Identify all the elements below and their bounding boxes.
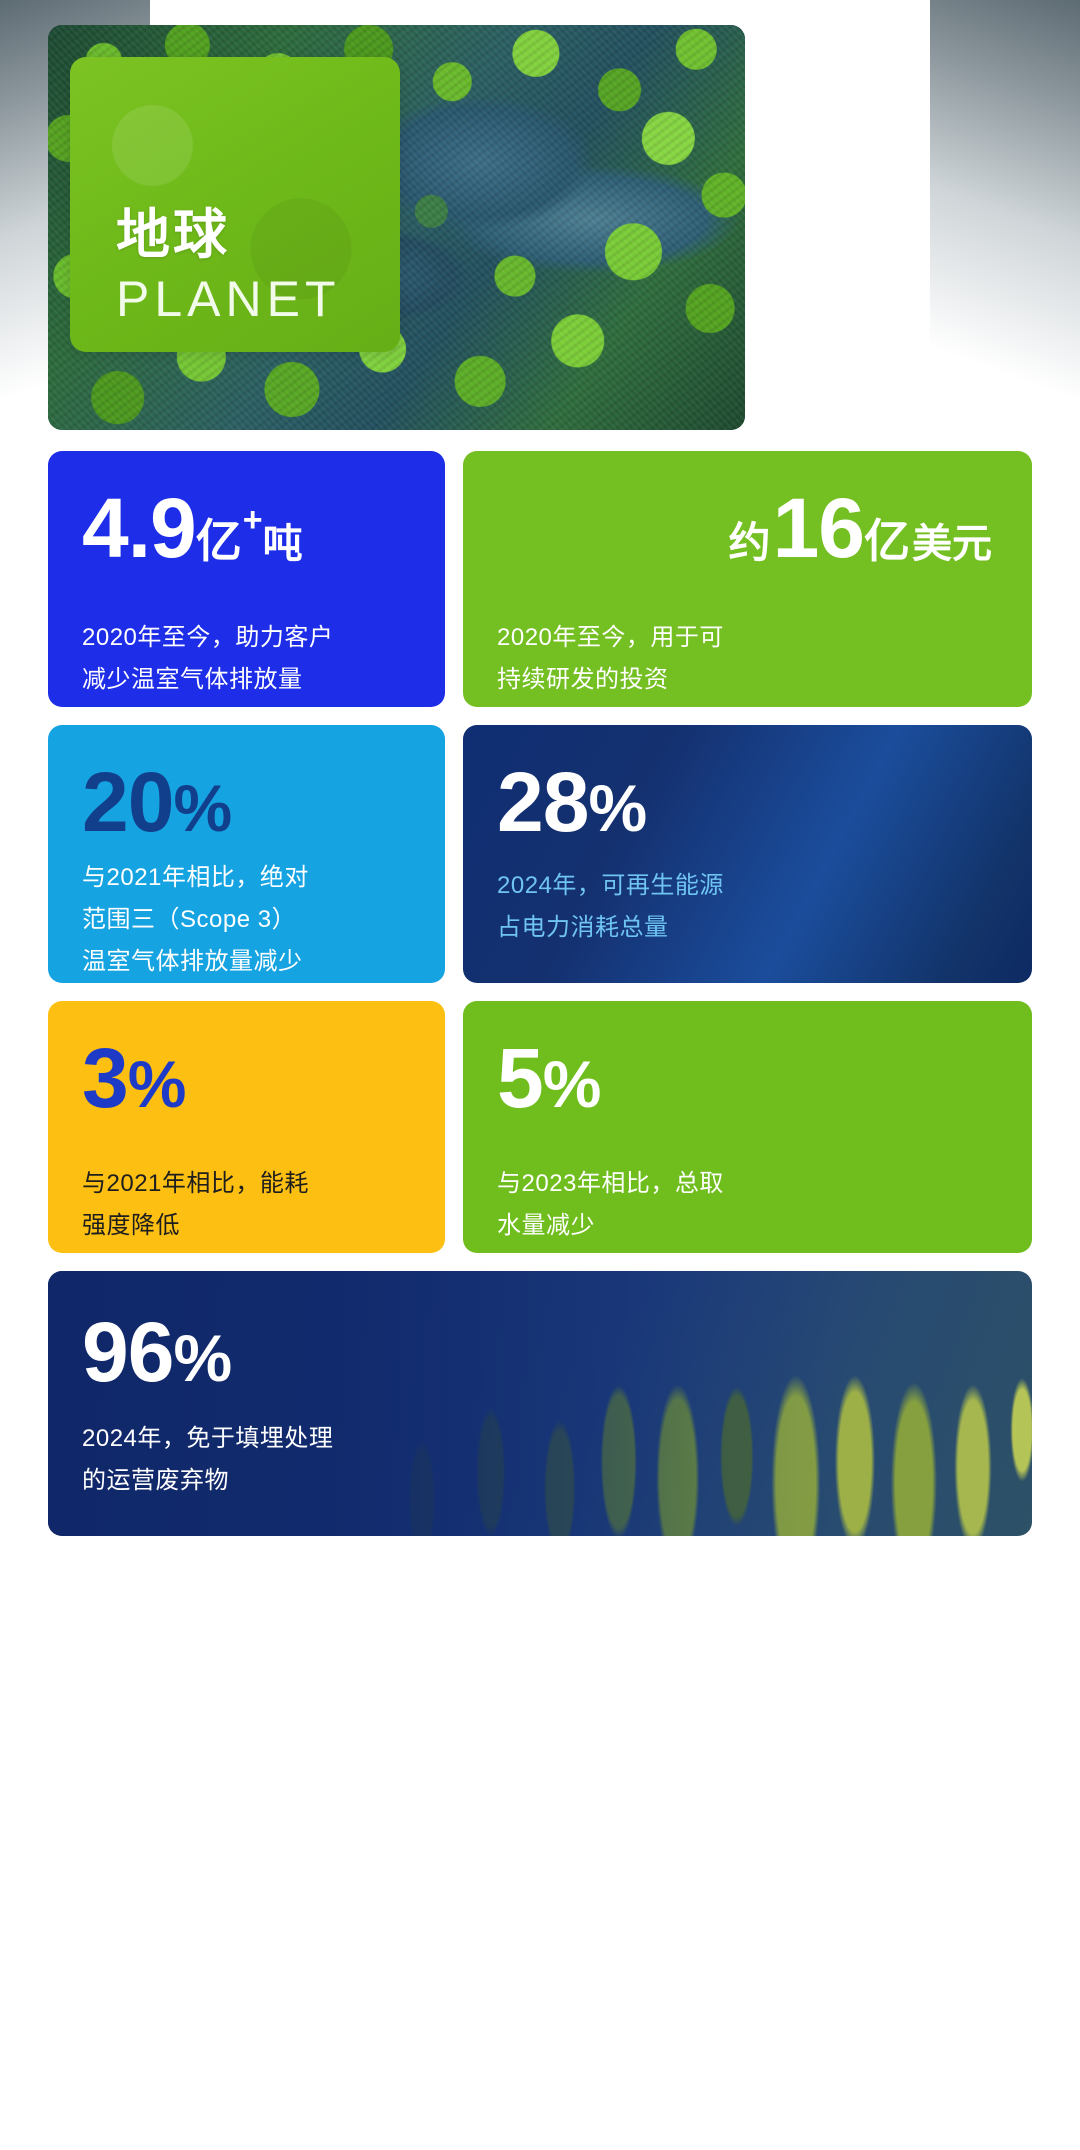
- stat-card-water-withdrawal: 5% 与2023年相比，总取 水量减少: [463, 1001, 1032, 1253]
- stat-percent: %: [128, 1053, 186, 1116]
- stat-number: 16: [773, 489, 864, 569]
- stat-unit-secondary: 吨: [263, 525, 303, 563]
- stat-card-ghg-reduction: 4.9亿+吨 2020年至今，助力客户 减少温室气体排放量: [48, 451, 445, 707]
- stat-value-waste: 96%: [82, 1313, 998, 1393]
- desc-line-2: 持续研发的投资: [497, 659, 998, 701]
- stat-card-energy-intensity: 3% 与2021年相比，能耗 强度降低: [48, 1001, 445, 1253]
- desc-line-2: 减少温室气体排放量: [82, 659, 411, 701]
- stat-card-scope3: 20% 与2021年相比，绝对 范围三（Scope 3） 温室气体排放量减少: [48, 725, 445, 983]
- stat-description-ghg: 2020年至今，助力客户 减少温室气体排放量: [82, 617, 411, 701]
- desc-line-2: 水量减少: [497, 1205, 998, 1247]
- stat-description-water: 与2023年相比，总取 水量减少: [497, 1163, 998, 1247]
- stat-number: 20: [82, 763, 173, 843]
- stat-card-grid: 4.9亿+吨 2020年至今，助力客户 减少温室气体排放量 约16亿美元 202…: [48, 451, 1032, 1253]
- stat-unit: 亿: [196, 520, 242, 564]
- stat-number: 96: [82, 1313, 173, 1393]
- desc-line-2: 的运营废弃物: [82, 1460, 998, 1502]
- stat-number: 28: [497, 763, 588, 843]
- stat-value-scope3: 20%: [82, 763, 411, 843]
- hero-title-english: PLANET: [116, 268, 400, 331]
- stat-description-energy: 与2021年相比，能耗 强度降低: [82, 1163, 411, 1247]
- stat-value-water: 5%: [497, 1039, 998, 1119]
- stat-unit-secondary: 美元: [912, 525, 992, 563]
- desc-line-3: 温室气体排放量减少: [82, 941, 411, 983]
- desc-line-1: 与2021年相比，绝对: [82, 857, 411, 899]
- desc-line-2: 范围三（Scope 3）: [82, 899, 411, 941]
- stat-percent: %: [543, 1053, 601, 1116]
- desc-line-2: 占电力消耗总量: [497, 907, 998, 949]
- stat-description-waste: 2024年，免于填埋处理 的运营废弃物: [82, 1418, 998, 1502]
- hero-banner: 地球 PLANET: [48, 25, 745, 430]
- stat-prefix: 约: [729, 523, 771, 563]
- stat-card-rnd-investment: 约16亿美元 2020年至今，用于可 持续研发的投资: [463, 451, 1032, 707]
- stat-superscript: +: [243, 504, 262, 536]
- desc-line-1: 2024年，免于填埋处理: [82, 1418, 998, 1460]
- stat-value-renewable: 28%: [497, 763, 998, 843]
- desc-line-1: 2024年，可再生能源: [497, 865, 998, 907]
- infographic-page: 地球 PLANET 4.9亿+吨 2020年至今，助力客户 减少温室气体排放量 …: [0, 0, 1080, 1536]
- stat-card-waste-diversion: 96% 2024年，免于填埋处理 的运营废弃物: [48, 1271, 1032, 1536]
- stat-number: 5: [497, 1039, 543, 1119]
- desc-line-2: 强度降低: [82, 1205, 411, 1247]
- hero-title-chinese: 地球: [116, 207, 400, 264]
- stat-card-renewable-energy: 28% 2024年，可再生能源 占电力消耗总量: [463, 725, 1032, 983]
- hero-title-card: 地球 PLANET: [70, 57, 400, 352]
- desc-line-1: 2020年至今，助力客户: [82, 617, 411, 659]
- stat-percent: %: [173, 777, 231, 840]
- stat-value-ghg: 4.9亿+吨: [82, 489, 411, 569]
- desc-line-1: 与2021年相比，能耗: [82, 1163, 411, 1205]
- stat-percent: %: [173, 1327, 231, 1390]
- desc-line-1: 与2023年相比，总取: [497, 1163, 998, 1205]
- stat-value-energy: 3%: [82, 1039, 411, 1119]
- stat-number: 3: [82, 1039, 128, 1119]
- stat-description-rnd: 2020年至今，用于可 持续研发的投资: [497, 617, 998, 701]
- stat-unit: 亿: [864, 520, 910, 564]
- stat-description-renewable: 2024年，可再生能源 占电力消耗总量: [497, 865, 998, 949]
- desc-line-1: 2020年至今，用于可: [497, 617, 998, 659]
- stat-number: 4.9: [82, 489, 196, 569]
- stat-percent: %: [588, 777, 646, 840]
- stat-description-scope3: 与2021年相比，绝对 范围三（Scope 3） 温室气体排放量减少: [82, 857, 411, 983]
- stat-value-rnd: 约16亿美元: [497, 489, 998, 569]
